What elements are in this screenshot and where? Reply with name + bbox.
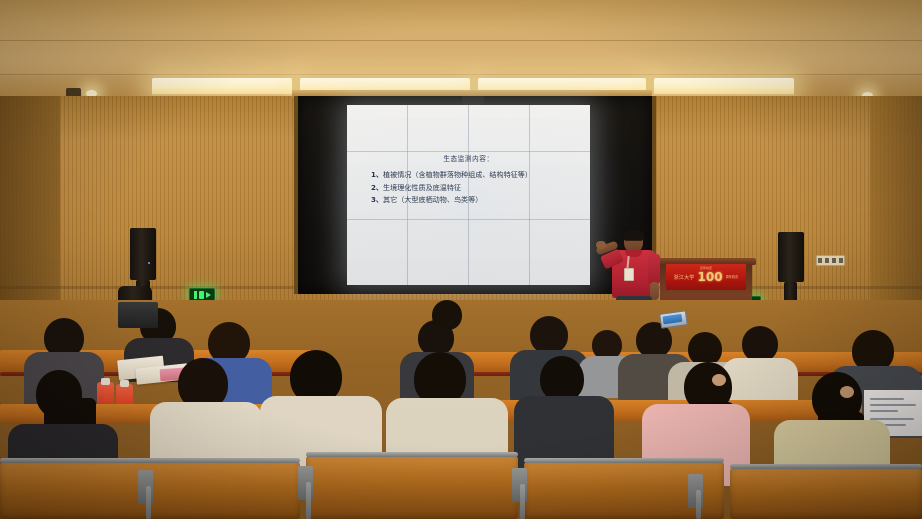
seat-rail bbox=[524, 458, 724, 463]
presenter-sleeve bbox=[648, 254, 660, 284]
presenter-hand bbox=[596, 241, 606, 249]
arrow-right-icon bbox=[206, 292, 211, 298]
seat-rail bbox=[730, 464, 922, 469]
slide-bullet-2: 2、生境理化性质及底温特征 bbox=[347, 182, 590, 195]
person-head bbox=[432, 300, 462, 330]
backpack bbox=[118, 302, 158, 328]
presenter-hair bbox=[623, 230, 644, 240]
slide-content: 生态监测内容： 1、植被情况（含植物群落物种组成、结构特征等） 2、生境理化性质… bbox=[347, 153, 590, 207]
seat-armrest bbox=[520, 484, 525, 519]
laptop-text-line bbox=[870, 410, 898, 412]
presenter-badge bbox=[624, 268, 634, 281]
hair-tie bbox=[712, 374, 726, 386]
person-head bbox=[530, 316, 568, 354]
wall-speaker-right-upper bbox=[778, 232, 804, 282]
presenter-glasses bbox=[625, 240, 642, 245]
bottle-cap bbox=[120, 380, 129, 387]
slide-title: 生态监测内容： bbox=[347, 153, 590, 163]
slide-bullet-2-number: 2、 bbox=[371, 183, 383, 192]
ceiling-seam bbox=[0, 40, 922, 41]
slide-bullet-3: 3、其它（大型底栖动物、鸟类等） bbox=[347, 194, 590, 207]
seat-rail bbox=[0, 458, 300, 463]
lecture-hall-photo: 生态监测内容： 1、植被情况（含植物群落物种组成、结构特征等） 2、生境理化性质… bbox=[0, 0, 922, 519]
phone-screen bbox=[662, 314, 682, 325]
ceiling-seam bbox=[0, 74, 922, 75]
ceiling-light-panel bbox=[654, 78, 794, 95]
screen-mount-bracket bbox=[462, 96, 484, 105]
slide-bullet-2-text: 生境理化性质及底温特征 bbox=[383, 183, 461, 192]
running-man-icon bbox=[199, 291, 204, 299]
panel-seam bbox=[347, 151, 590, 152]
banner-university-name: 浙江大学 bbox=[674, 274, 695, 281]
laptop-text-line bbox=[870, 398, 904, 400]
seat-rail bbox=[306, 452, 518, 457]
ceiling-light-panel bbox=[152, 78, 292, 95]
person-head bbox=[742, 326, 778, 362]
laptop-text-line bbox=[870, 404, 916, 406]
slide-bullet-1: 1、植被情况（含植物群落物种组成、结构特征等） bbox=[347, 169, 590, 182]
exit-bar-icon bbox=[194, 291, 197, 299]
banner-anniversary-number: 100 bbox=[698, 271, 723, 283]
bottle-cap bbox=[101, 378, 110, 385]
hair-tie bbox=[840, 386, 854, 398]
seat-armrest bbox=[696, 490, 701, 519]
seat-armrest bbox=[146, 486, 151, 519]
banner-subtext: 周年校庆 bbox=[726, 275, 739, 279]
podium-banner: 百年校庆 浙江大学 100 周年校庆 bbox=[666, 264, 746, 290]
person-head bbox=[688, 332, 722, 366]
seat-back-row[interactable] bbox=[730, 468, 922, 519]
slide-bullet-3-text: 其它（大型底栖动物、鸟类等） bbox=[383, 195, 482, 204]
slide-bullet-1-number: 1、 bbox=[371, 170, 383, 179]
slide-bullet-3-number: 3、 bbox=[371, 195, 383, 204]
wall-outlet-plate[interactable] bbox=[816, 255, 845, 266]
slide-bullet-1-text: 植被情况（含植物群落物种组成、结构特征等） bbox=[383, 170, 532, 179]
projected-slide: 生态监测内容： 1、植被情况（含植物群落物种组成、结构特征等） 2、生境理化性质… bbox=[347, 105, 590, 285]
speaker-led bbox=[148, 262, 150, 264]
seat-armrest bbox=[306, 482, 311, 519]
wall-speaker-left-upper bbox=[130, 228, 156, 280]
seat-back-row[interactable] bbox=[306, 456, 518, 519]
panel-seam bbox=[347, 219, 590, 220]
